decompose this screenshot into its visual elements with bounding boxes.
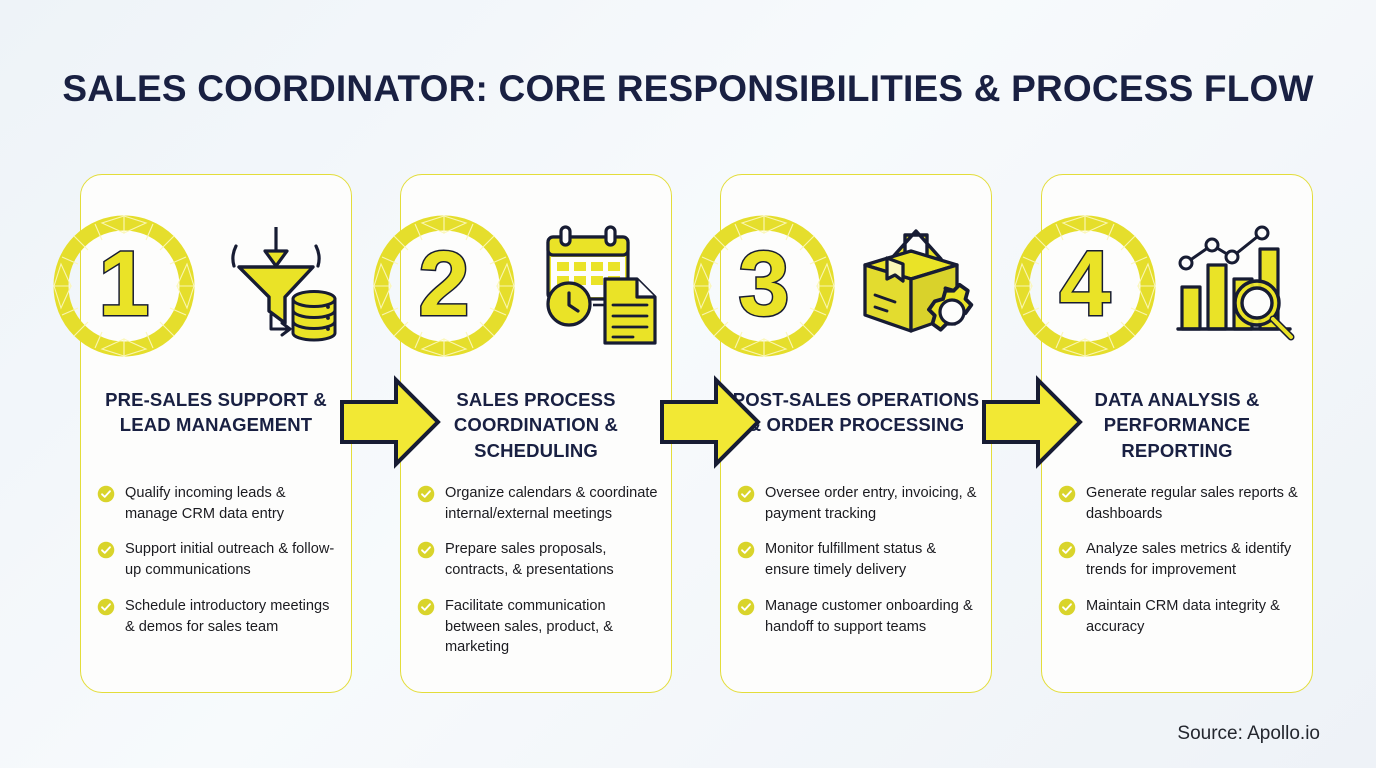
list-item: Qualify incoming leads & manage CRM data… (97, 483, 341, 524)
source-attribution: Source: Apollo.io (1177, 723, 1320, 745)
check-circle-icon (737, 598, 755, 616)
calendar-clock-document-icon (533, 223, 661, 347)
step-number-badge-1: 1 (49, 211, 199, 361)
step-number-badge-3: 3 (689, 211, 839, 361)
list-item-label: Analyze sales metrics & identify trends … (1086, 539, 1302, 580)
step-heading: SALES PROCESS COORDINATION & SCHEDULING (409, 387, 663, 463)
check-circle-icon (1058, 485, 1076, 503)
page-title: SALES COORDINATOR: CORE RESPONSIBILITIES… (0, 68, 1376, 110)
check-circle-icon (737, 485, 755, 503)
list-item: Manage customer onboarding & handoff to … (737, 596, 981, 637)
step-heading: POST-SALES OPERATIONS & ORDER PROCESSING (729, 387, 983, 438)
step-heading: PRE-SALES SUPPORT & LEAD MANAGEMENT (89, 387, 343, 438)
step-number: 1 (49, 211, 199, 361)
list-item-label: Generate regular sales reports & dashboa… (1086, 483, 1302, 524)
arrow-step1-to-step2 (338, 372, 442, 472)
arrow-step2-to-step3 (658, 372, 762, 472)
list-item-label: Organize calendars & coordinate internal… (445, 483, 661, 524)
step-heading: DATA ANALYSIS & PERFORMANCE REPORTING (1050, 387, 1304, 463)
step-number-badge-4: 4 (1010, 211, 1160, 361)
bar-chart-magnifier-icon (1174, 223, 1302, 347)
check-circle-icon (737, 541, 755, 559)
list-item: Support initial outreach & follow-up com… (97, 539, 341, 580)
step-bullet-list: Oversee order entry, invoicing, & paymen… (737, 483, 981, 652)
step-bullet-list: Qualify incoming leads & manage CRM data… (97, 483, 341, 652)
step-number-badge-2: 2 (369, 211, 519, 361)
check-circle-icon (1058, 541, 1076, 559)
list-item: Analyze sales metrics & identify trends … (1058, 539, 1302, 580)
list-item: Schedule introductory meetings & demos f… (97, 596, 341, 637)
step-number: 3 (689, 211, 839, 361)
check-circle-icon (417, 598, 435, 616)
check-circle-icon (417, 485, 435, 503)
list-item-label: Support initial outreach & follow-up com… (125, 539, 341, 580)
list-item: Prepare sales proposals, contracts, & pr… (417, 539, 661, 580)
list-item-label: Monitor fulfillment status & ensure time… (765, 539, 981, 580)
list-item-label: Maintain CRM data integrity & accuracy (1086, 596, 1302, 637)
package-gear-icon (853, 223, 981, 347)
list-item: Maintain CRM data integrity & accuracy (1058, 596, 1302, 637)
step-number: 4 (1010, 211, 1160, 361)
check-circle-icon (417, 541, 435, 559)
list-item: Facilitate communication between sales, … (417, 596, 661, 658)
list-item-label: Schedule introductory meetings & demos f… (125, 596, 341, 637)
step-number: 2 (369, 211, 519, 361)
check-circle-icon (97, 598, 115, 616)
funnel-database-icon (213, 223, 341, 347)
list-item-label: Manage customer onboarding & handoff to … (765, 596, 981, 637)
list-item: Oversee order entry, invoicing, & paymen… (737, 483, 981, 524)
list-item-label: Oversee order entry, invoicing, & paymen… (765, 483, 981, 524)
check-circle-icon (1058, 598, 1076, 616)
arrow-step3-to-step4 (980, 372, 1084, 472)
step-card-1[interactable]: 1 PRE-SALES SUPPORT & LEAD MANAGEMENT (80, 174, 352, 693)
list-item-label: Facilitate communication between sales, … (445, 596, 661, 658)
list-item: Generate regular sales reports & dashboa… (1058, 483, 1302, 524)
list-item: Organize calendars & coordinate internal… (417, 483, 661, 524)
list-item-label: Prepare sales proposals, contracts, & pr… (445, 539, 661, 580)
check-circle-icon (97, 485, 115, 503)
check-circle-icon (97, 541, 115, 559)
step-bullet-list: Organize calendars & coordinate internal… (417, 483, 661, 673)
list-item-label: Qualify incoming leads & manage CRM data… (125, 483, 341, 524)
list-item: Monitor fulfillment status & ensure time… (737, 539, 981, 580)
step-bullet-list: Generate regular sales reports & dashboa… (1058, 483, 1302, 652)
